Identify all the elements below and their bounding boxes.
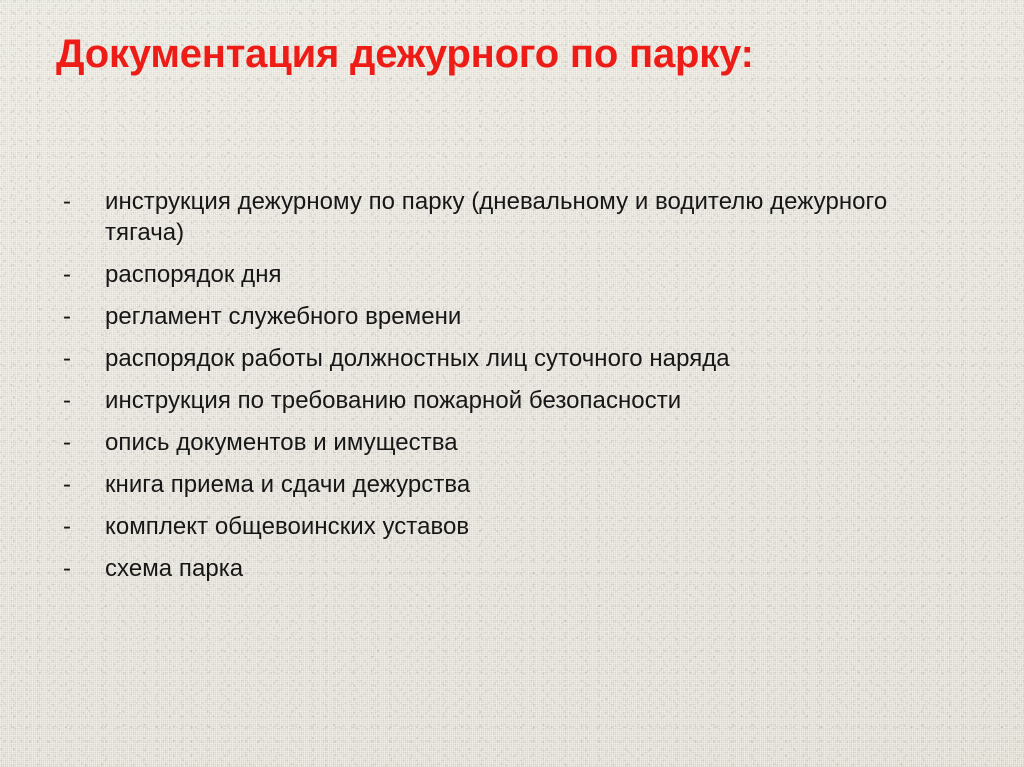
list-item-text: инструкция по требованию пожарной безопа… bbox=[105, 387, 681, 414]
list-item-text: инструкция дежурному по парку (дневально… bbox=[105, 188, 887, 246]
bullet-dash: - bbox=[63, 343, 105, 374]
bullet-dash: - bbox=[63, 511, 105, 542]
documentation-list: - инструкция дежурному по парку (дневаль… bbox=[63, 186, 943, 595]
bullet-dash: - bbox=[63, 259, 105, 290]
bullet-dash: - bbox=[63, 385, 105, 416]
list-item-text: распорядок работы должностных лиц суточн… bbox=[105, 345, 730, 372]
bullet-dash: - bbox=[63, 186, 105, 217]
list-item: - комплект общевоинских уставов bbox=[63, 511, 943, 542]
list-item: - распорядок работы должностных лиц суто… bbox=[63, 343, 943, 374]
list-item-text: распорядок дня bbox=[105, 261, 282, 288]
list-item: - опись документов и имущества bbox=[63, 427, 943, 458]
bullet-dash: - bbox=[63, 301, 105, 332]
presentation-slide: Документация дежурного по парку: - инстр… bbox=[0, 0, 1024, 767]
list-item: - инструкция дежурному по парку (дневаль… bbox=[63, 186, 943, 248]
list-item: - книга приема и сдачи дежурства bbox=[63, 469, 943, 500]
list-item: - схема парка bbox=[63, 553, 943, 584]
slide-title: Документация дежурного по парку: bbox=[56, 28, 976, 80]
list-item-text: комплект общевоинских уставов bbox=[105, 513, 469, 540]
slide-content: Документация дежурного по парку: - инстр… bbox=[0, 0, 1024, 767]
list-item-text: регламент служебного времени bbox=[105, 303, 461, 330]
list-item: - инструкция по требованию пожарной безо… bbox=[63, 385, 943, 416]
list-item-text: схема парка bbox=[105, 555, 243, 582]
list-item-text: опись документов и имущества bbox=[105, 429, 458, 456]
list-item-text: книга приема и сдачи дежурства bbox=[105, 471, 470, 498]
list-item: - распорядок дня bbox=[63, 259, 943, 290]
bullet-dash: - bbox=[63, 553, 105, 584]
bullet-dash: - bbox=[63, 427, 105, 458]
list-item: - регламент служебного времени bbox=[63, 301, 943, 332]
bullet-dash: - bbox=[63, 469, 105, 500]
